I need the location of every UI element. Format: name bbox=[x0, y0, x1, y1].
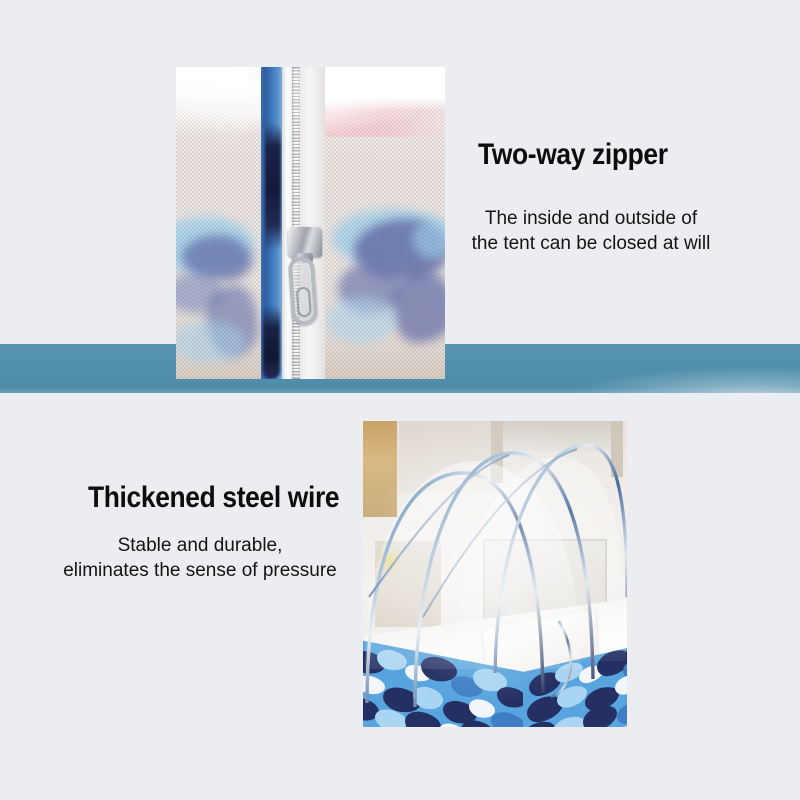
steel-wire-subline-line1: Stable and durable, bbox=[50, 533, 350, 558]
zipper-track bbox=[259, 67, 325, 379]
steel-wire-subline-line2: eliminates the sense of pressure bbox=[50, 558, 350, 583]
steel-wire-subline: Stable and durable, eliminates the sense… bbox=[50, 533, 350, 583]
zipper-tape-right bbox=[300, 67, 325, 379]
band-highlight bbox=[570, 367, 800, 393]
zipper-strap-shadow bbox=[263, 305, 280, 379]
steel-wire-arches bbox=[363, 421, 627, 727]
infographic-page: Two-way zipper The inside and outside of… bbox=[0, 0, 800, 800]
zipper-closeup-photo bbox=[176, 67, 445, 379]
mesh-highlight-left bbox=[176, 67, 248, 105]
mesh-highlight-right bbox=[325, 67, 445, 111]
zipper-strap-shadow bbox=[265, 123, 281, 251]
zipper-headline: Two-way zipper bbox=[478, 138, 668, 172]
tent-arches-photo bbox=[363, 421, 627, 727]
zipper-pull-tab-icon bbox=[288, 256, 319, 326]
zipper-subline-line1: The inside and outside of bbox=[455, 206, 727, 231]
steel-wire-headline: Thickened steel wire bbox=[88, 481, 339, 515]
zipper-subline: The inside and outside of the tent can b… bbox=[455, 206, 727, 256]
zipper-subline-line2: the tent can be closed at will bbox=[455, 231, 727, 256]
pull-tab-hole bbox=[296, 287, 312, 318]
